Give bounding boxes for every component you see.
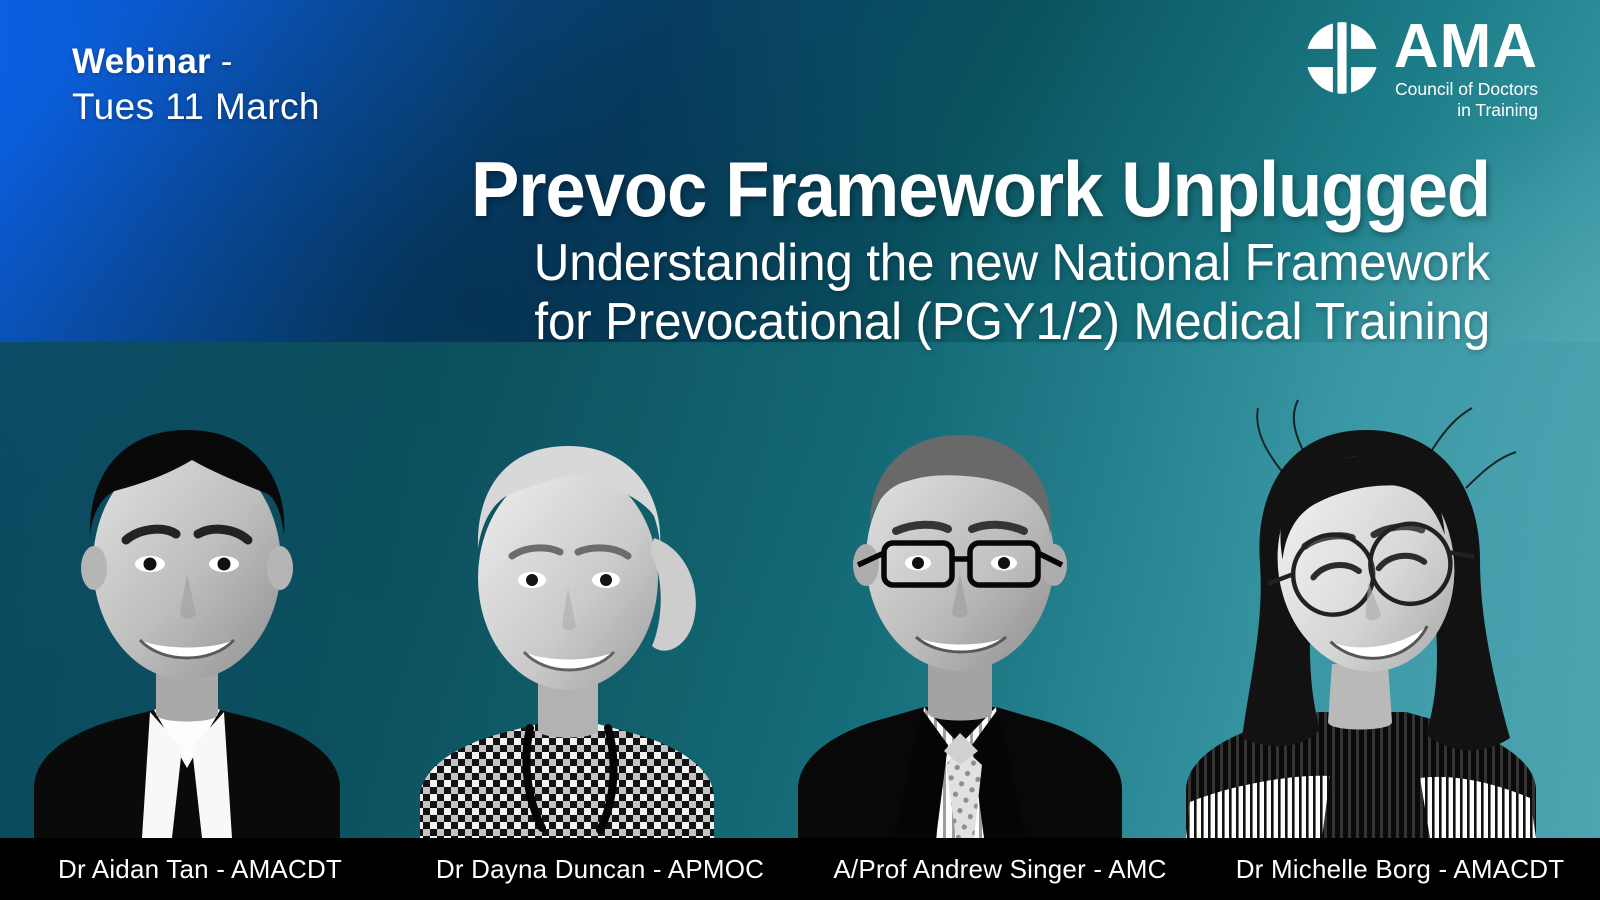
ama-subtitle: Council of Doctors in Training — [1395, 79, 1538, 120]
speaker-name-2: Dr Dayna Duncan - APMOC — [400, 854, 800, 885]
webinar-dash: - — [221, 42, 233, 81]
webinar-eyebrow: Webinar - Tues 11 March — [72, 44, 320, 125]
webinar-date: Tues 11 March — [72, 88, 320, 125]
ama-subtitle-line2: in Training — [1457, 100, 1538, 120]
speaker-name-1: Dr Aidan Tan - AMACDT — [0, 854, 400, 885]
ama-wordmark-block: AMA Council of Doctors in Training — [1394, 18, 1538, 120]
webinar-label-line: Webinar - — [72, 44, 320, 79]
portrait-michelle-borg — [1180, 378, 1550, 838]
ama-caduceus-emblem-icon — [1304, 20, 1380, 96]
speaker-portrait-row — [0, 308, 1600, 838]
portrait-dayna-duncan — [402, 388, 732, 838]
portrait-aidan-tan — [22, 368, 352, 838]
speaker-name-bar: Dr Aidan Tan - AMACDT Dr Dayna Duncan - … — [0, 838, 1600, 900]
webinar-label: Webinar — [72, 42, 211, 81]
page-subtitle-line1: Understanding the new National Framework — [369, 234, 1490, 293]
portrait-andrew-singer — [790, 373, 1130, 838]
speaker-name-3: A/Prof Andrew Singer - AMC — [800, 854, 1200, 885]
page-title: Prevoc Framework Unplugged — [393, 150, 1490, 228]
ama-logo: AMA Council of Doctors in Training — [1304, 18, 1538, 120]
ama-subtitle-line1: Council of Doctors — [1395, 79, 1538, 99]
speaker-name-4: Dr Michelle Borg - AMACDT — [1200, 854, 1600, 885]
ama-wordmark: AMA — [1394, 18, 1538, 75]
webinar-promo-poster: Webinar - Tues 11 March — [0, 0, 1600, 900]
